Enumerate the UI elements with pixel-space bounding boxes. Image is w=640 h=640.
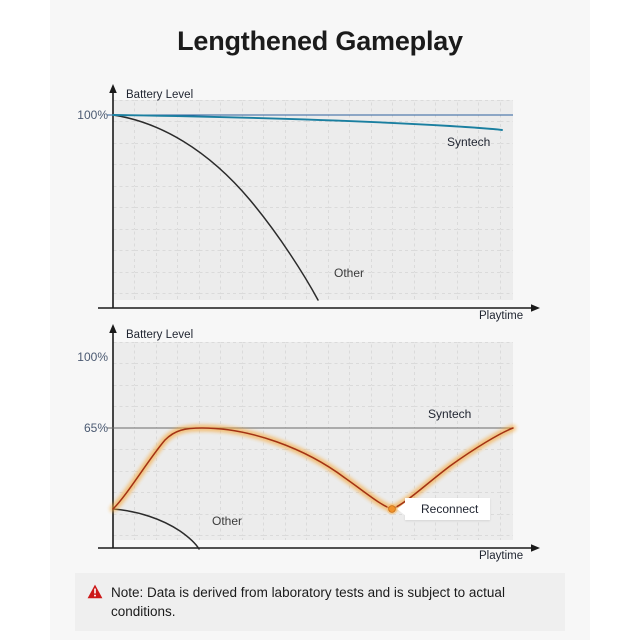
- x-axis-title-2: Playtime: [479, 550, 523, 562]
- y-tick-label-100: 100%: [60, 108, 108, 122]
- y-tick-label-100-2: 100%: [60, 350, 108, 364]
- disclaimer-note: Note: Data is derived from laboratory te…: [75, 573, 565, 631]
- reconnect-callout-label: Reconnect: [421, 502, 478, 516]
- warning-triangle-icon: [87, 584, 103, 604]
- series-label-syntech-1: Syntech: [447, 135, 490, 149]
- y-axis-arrow-1: [109, 84, 117, 93]
- x-axis-arrow-1: [531, 304, 540, 312]
- x-axis-arrow-2: [531, 544, 540, 552]
- grid-1: [113, 100, 513, 300]
- series-label-other-2: Other: [212, 514, 242, 528]
- chart-battery-comparison-2: Battery Level Playtime 100% 65% Syntech …: [50, 320, 590, 560]
- series-label-syntech-2: Syntech: [428, 407, 471, 421]
- reconnect-marker-dot[interactable]: [389, 506, 396, 513]
- chart-2-svg: [50, 320, 590, 560]
- chart-1-svg: [50, 80, 590, 320]
- infographic-root: Lengthened Gameplay: [0, 0, 640, 640]
- y-axis-arrow-2: [109, 324, 117, 333]
- y-tick-label-65: 65%: [60, 421, 108, 435]
- y-axis-title-2: Battery Level: [126, 329, 193, 341]
- chart-battery-comparison-1: Battery Level Playtime 100% Syntech Othe…: [50, 80, 590, 320]
- reconnect-callout[interactable]: Reconnect: [405, 498, 490, 520]
- y-axis-title-1: Battery Level: [126, 89, 193, 101]
- disclaimer-note-text: Note: Data is derived from laboratory te…: [111, 583, 551, 621]
- page-title: Lengthened Gameplay: [50, 26, 590, 57]
- content-card: Lengthened Gameplay: [50, 0, 590, 640]
- series-label-other-1: Other: [334, 266, 364, 280]
